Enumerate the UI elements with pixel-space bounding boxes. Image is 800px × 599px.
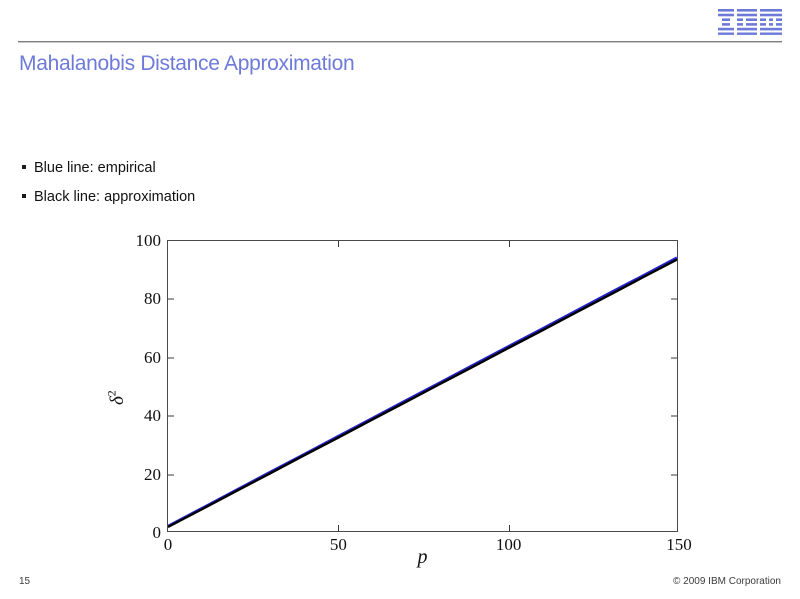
y-axis-tick-mark	[168, 299, 174, 300]
y-axis-tick-mark	[671, 416, 677, 417]
chart-plot-area: 020406080100050100150	[167, 240, 678, 532]
ibm-logo	[718, 9, 782, 35]
square-bullet-icon	[22, 164, 34, 175]
y-axis-label-exponent: 2	[106, 390, 119, 396]
list-item-label: Black line: approximation	[34, 189, 195, 205]
y-axis-tick-label: 80	[144, 289, 161, 309]
header-divider	[18, 41, 782, 43]
chart-x-axis-label: p	[100, 546, 745, 569]
x-axis-tick-mark	[509, 241, 510, 247]
y-axis-tick-mark	[671, 474, 677, 475]
page-number: 15	[19, 576, 30, 587]
x-axis-tick-mark	[338, 525, 339, 531]
y-axis-tick-label: 60	[144, 348, 161, 368]
bullet-list: Blue line: empirical Black line: approxi…	[22, 160, 442, 218]
y-axis-tick-mark	[671, 299, 677, 300]
y-axis-tick-label: 20	[144, 465, 161, 485]
y-axis-tick-mark	[168, 474, 174, 475]
page-title: Mahalanobis Distance Approximation	[19, 52, 354, 76]
chart-figure: δ2 020406080100050100150 p	[100, 228, 700, 558]
list-item: Blue line: empirical	[22, 160, 442, 176]
square-bullet-icon	[22, 193, 34, 204]
y-axis-tick-mark	[168, 357, 174, 358]
list-item-label: Blue line: empirical	[34, 160, 156, 176]
copyright-notice: © 2009 IBM Corporation	[673, 576, 781, 587]
y-axis-tick-label: 40	[144, 406, 161, 426]
x-axis-tick-mark	[338, 241, 339, 247]
chart-lines	[168, 241, 677, 531]
slide: Mahalanobis Distance Approximation Blue …	[0, 0, 800, 599]
chart-y-axis-label: δ2	[106, 390, 129, 405]
series-line-approximation	[168, 260, 677, 527]
x-axis-tick-mark	[509, 525, 510, 531]
x-axis-label-symbol: p	[418, 546, 428, 568]
y-axis-tick-label: 100	[136, 231, 162, 251]
y-axis-tick-mark	[671, 357, 677, 358]
y-axis-tick-label: 0	[153, 523, 162, 543]
y-axis-tick-mark	[168, 416, 174, 417]
y-axis-label-symbol: δ	[107, 396, 128, 405]
list-item: Black line: approximation	[22, 189, 442, 205]
